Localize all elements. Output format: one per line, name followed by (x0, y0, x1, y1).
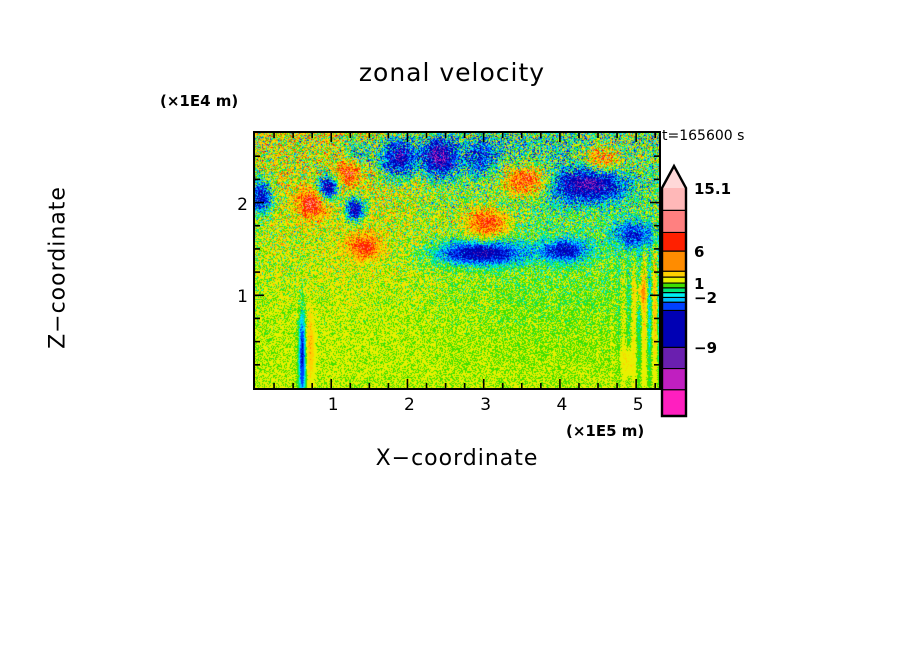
colorbar-arrow-tip (662, 166, 686, 188)
colorbar-band (662, 310, 686, 347)
y-tick-label: 2 (237, 195, 248, 215)
colorbar-band (662, 302, 686, 310)
timestamp-annotation: t=165600 s (662, 128, 744, 144)
colorbar-band (662, 232, 686, 251)
x-axis-label: X−coordinate (253, 446, 661, 471)
x-tick-label: 4 (556, 395, 567, 415)
y-axis-unit-label: (×1E4 m) (160, 92, 238, 110)
colorbar-band (662, 288, 686, 293)
colorbar-tick-label: −9 (694, 339, 717, 357)
colorbar-band (662, 277, 686, 283)
contour-plot-canvas (253, 131, 661, 390)
x-tick-label: 1 (328, 395, 339, 415)
velocity-field-heatmap (253, 131, 661, 390)
colorbar-tick-label: −2 (694, 289, 717, 307)
colorbar-band (662, 347, 686, 368)
x-tick-label: 5 (633, 395, 644, 415)
colorbar-band (662, 283, 686, 288)
colorbar-band (662, 251, 686, 271)
x-tick-label: 3 (480, 395, 491, 415)
colorbar-band (662, 390, 686, 416)
colorbar-band (662, 271, 686, 277)
colorbar-tick-label: 6 (694, 243, 704, 261)
colorbar-band (662, 188, 686, 210)
colorbar-band (662, 369, 686, 390)
x-tick-label: 2 (404, 395, 415, 415)
colorbar-tick-label: 15.1 (694, 180, 731, 198)
x-axis-unit-label: (×1E5 m) (566, 422, 644, 440)
colorbar-band (662, 210, 686, 232)
colorbar: 15.161−2−9 (662, 166, 686, 394)
colorbar-band (662, 293, 686, 298)
page-title: zonal velocity (0, 58, 904, 87)
y-axis-label: Z−coordinate (46, 158, 71, 378)
colorbar-band (662, 297, 686, 302)
y-tick-label: 1 (237, 287, 248, 307)
